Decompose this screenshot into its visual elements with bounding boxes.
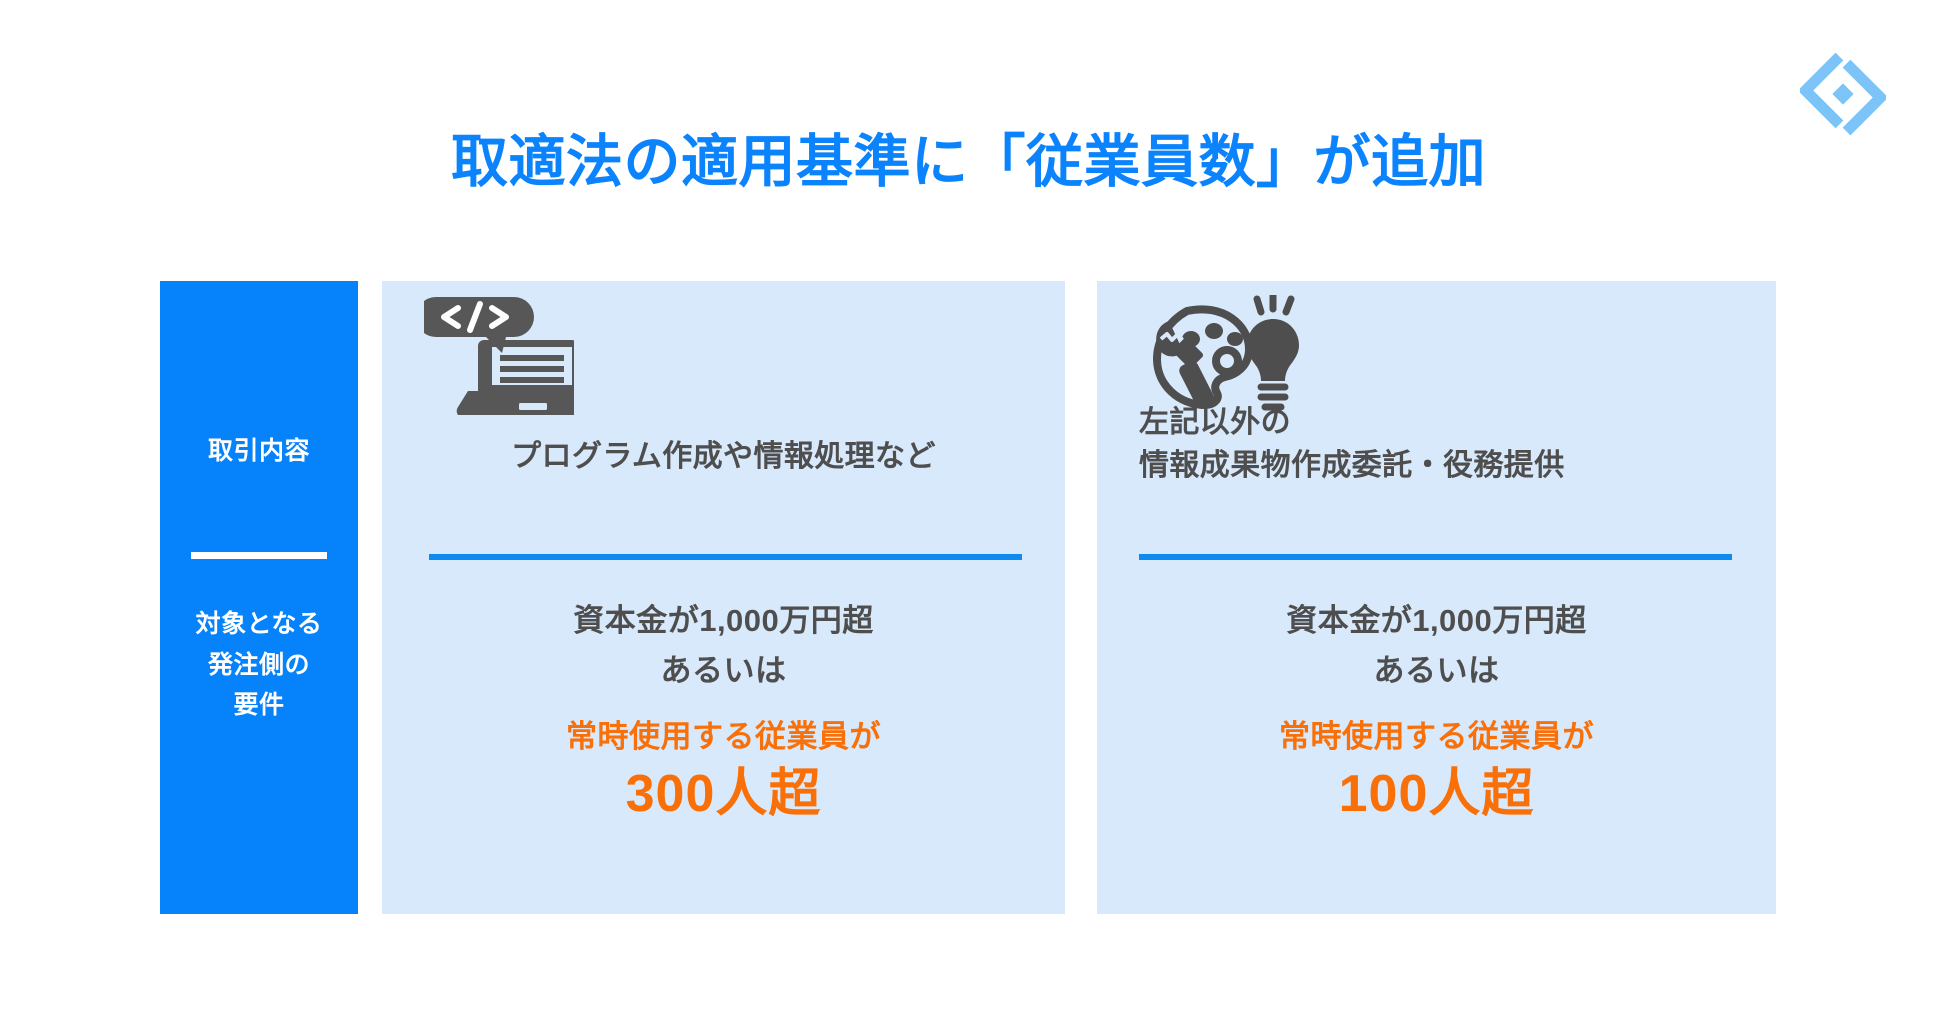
card-heading-creative: 左記以外の 情報成果物作成委託・役務提供 <box>1097 402 1776 487</box>
laptop-code-icon <box>424 295 574 415</box>
comparison-board: 取引内容 対象となる 発注側の 要件 <box>160 281 1776 914</box>
conjunction-left: あるいは <box>382 646 1065 696</box>
sidebar-label-requirements-line-2: 発注側の <box>160 645 358 686</box>
sidebar-label-requirements-line-3: 要件 <box>160 685 358 726</box>
card-creative-services: 左記以外の 情報成果物作成委託・役務提供 資本金が1,000万円超 あるいは 常… <box>1097 281 1776 914</box>
sidebar-label-requirements-line-1: 対象となる <box>160 604 358 645</box>
employee-count-left: 300人超 <box>382 763 1065 826</box>
sidebar-label-requirements: 対象となる 発注側の 要件 <box>160 604 358 726</box>
company-logo <box>1800 48 1886 140</box>
palette-lightbulb-icon <box>1139 295 1299 415</box>
card-heading-creative-line-2: 情報成果物作成委託・役務提供 <box>1139 445 1776 488</box>
card-divider-right <box>1139 554 1732 560</box>
capital-requirement-right: 資本金が1,000万円超 <box>1097 596 1776 646</box>
card-program-development: プログラム作成や情報処理など 資本金が1,000万円超 あるいは 常時使用する従… <box>382 281 1065 914</box>
sidebar-divider <box>191 552 327 559</box>
employee-requirement-label-right: 常時使用する従業員が <box>1097 712 1776 762</box>
criteria-sidebar: 取引内容 対象となる 発注側の 要件 <box>160 281 358 914</box>
employee-requirement-label-left: 常時使用する従業員が <box>382 712 1065 762</box>
conjunction-right: あるいは <box>1097 646 1776 696</box>
card-heading-program: プログラム作成や情報処理など <box>382 436 1065 479</box>
card-heading-program-line-1: プログラム作成や情報処理など <box>382 436 1065 479</box>
employee-count-right: 100人超 <box>1097 763 1776 826</box>
page-title: 取適法の適用基準に「従業員数」が追加 <box>0 128 1937 196</box>
capital-requirement-left: 資本金が1,000万円超 <box>382 596 1065 646</box>
sidebar-label-transaction-type: 取引内容 <box>160 431 358 472</box>
card-heading-creative-line-1: 左記以外の <box>1139 402 1776 445</box>
card-body-program: 資本金が1,000万円超 あるいは 常時使用する従業員が 300人超 <box>382 596 1065 826</box>
card-divider-left <box>429 554 1022 560</box>
card-body-creative: 資本金が1,000万円超 あるいは 常時使用する従業員が 100人超 <box>1097 596 1776 826</box>
